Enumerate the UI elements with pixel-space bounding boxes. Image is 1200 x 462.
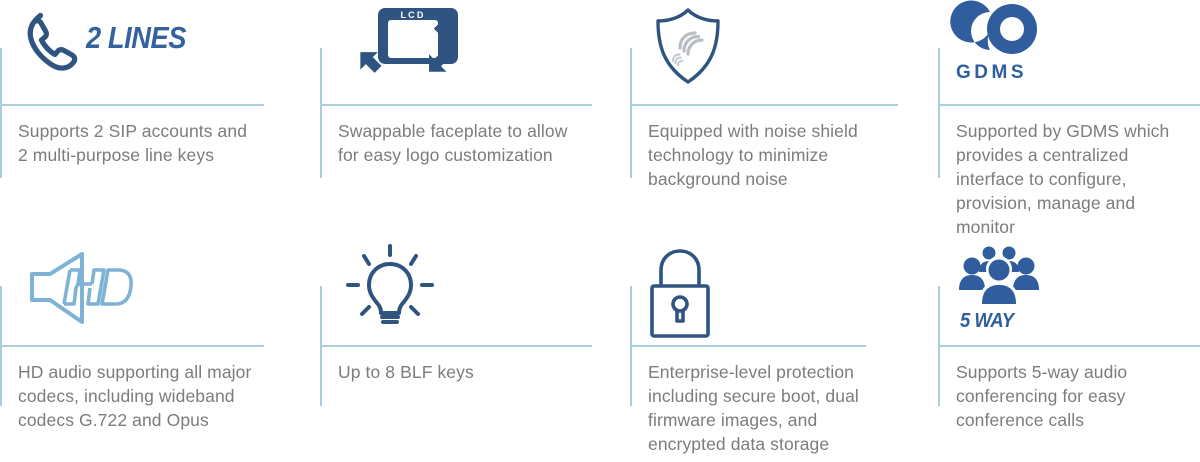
feature-grid: 2 LINES Supports 2 SIP accounts and 2 mu… [0, 0, 1200, 462]
five-way-icon-group: 5 WAY [956, 244, 1048, 338]
group-people-5-way-icon [956, 244, 1048, 310]
feature-card-blf-keys: Up to 8 BLF keys [320, 240, 620, 462]
two-lines-wordmark: 2 LINES [86, 20, 186, 56]
feature-card-noise-shield: Equipped with noise shield technology to… [630, 0, 930, 230]
hd-audio-caption: HD audio supporting all major codecs, in… [18, 360, 306, 432]
phone-handset-2-lines-icon [26, 10, 78, 72]
blf-keys-caption: Up to 8 BLF keys [338, 360, 620, 384]
feature-card-gdms: GDMS Supported by GDMS which provides a … [938, 0, 1200, 230]
shield-noise-waves-icon [650, 6, 726, 86]
five-way-caption: Supports 5-way audio conferencing for ea… [956, 360, 1200, 432]
card-horizontal-rule [630, 104, 898, 106]
feature-card-hd-audio: HD audio supporting all major codecs, in… [0, 240, 300, 462]
hd-audio-icon-group [22, 248, 134, 330]
card-vertical-rule [0, 48, 2, 178]
lightbulb-icon [342, 242, 438, 336]
two-lines-caption: Supports 2 SIP accounts and 2 multi-purp… [18, 119, 300, 167]
card-vertical-rule [320, 48, 322, 178]
blf-icon-group [342, 242, 438, 336]
gdms-caption: Supported by GDMS which provides a centr… [956, 119, 1200, 239]
card-vertical-rule [630, 48, 632, 178]
security-icon-group [644, 246, 716, 338]
card-horizontal-rule [320, 345, 592, 347]
feature-card-two-lines: 2 LINES Supports 2 SIP accounts and 2 mu… [0, 0, 300, 230]
card-horizontal-rule [630, 345, 866, 347]
card-horizontal-rule [938, 104, 1200, 106]
five-way-wordmark: 5 WAY [960, 310, 1014, 333]
svg-text:LCD: LCD [400, 10, 425, 20]
gdms-wordmark: GDMS [956, 62, 1027, 84]
lcd-icon-group: LCD [348, 4, 468, 92]
speaker-hd-icon [22, 248, 134, 330]
feature-card-five-way: 5 WAY Supports 5-way audio conferencing … [938, 240, 1200, 462]
enterprise-security-caption: Enterprise-level protection including se… [648, 360, 930, 456]
noise-shield-icon-group [650, 6, 726, 86]
padlock-icon [644, 246, 716, 338]
feature-card-swappable-faceplate: LCD Swappable faceplate to allow for eas… [320, 0, 620, 230]
card-horizontal-rule [320, 104, 592, 106]
lcd-faceplate-arrows-icon: LCD [348, 4, 468, 92]
card-horizontal-rule [938, 345, 1200, 347]
card-horizontal-rule [0, 104, 264, 106]
gdms-icon-group: GDMS [952, 2, 1048, 84]
gdms-rings-logo-icon [952, 2, 1048, 60]
two-lines-icon-group: 2 LINES [26, 8, 200, 72]
swappable-faceplate-caption: Swappable faceplate to allow for easy lo… [338, 119, 620, 167]
feature-card-enterprise-security: Enterprise-level protection including se… [630, 240, 930, 462]
noise-shield-caption: Equipped with noise shield technology to… [648, 119, 930, 191]
card-vertical-rule [938, 48, 940, 178]
card-horizontal-rule [0, 345, 264, 347]
